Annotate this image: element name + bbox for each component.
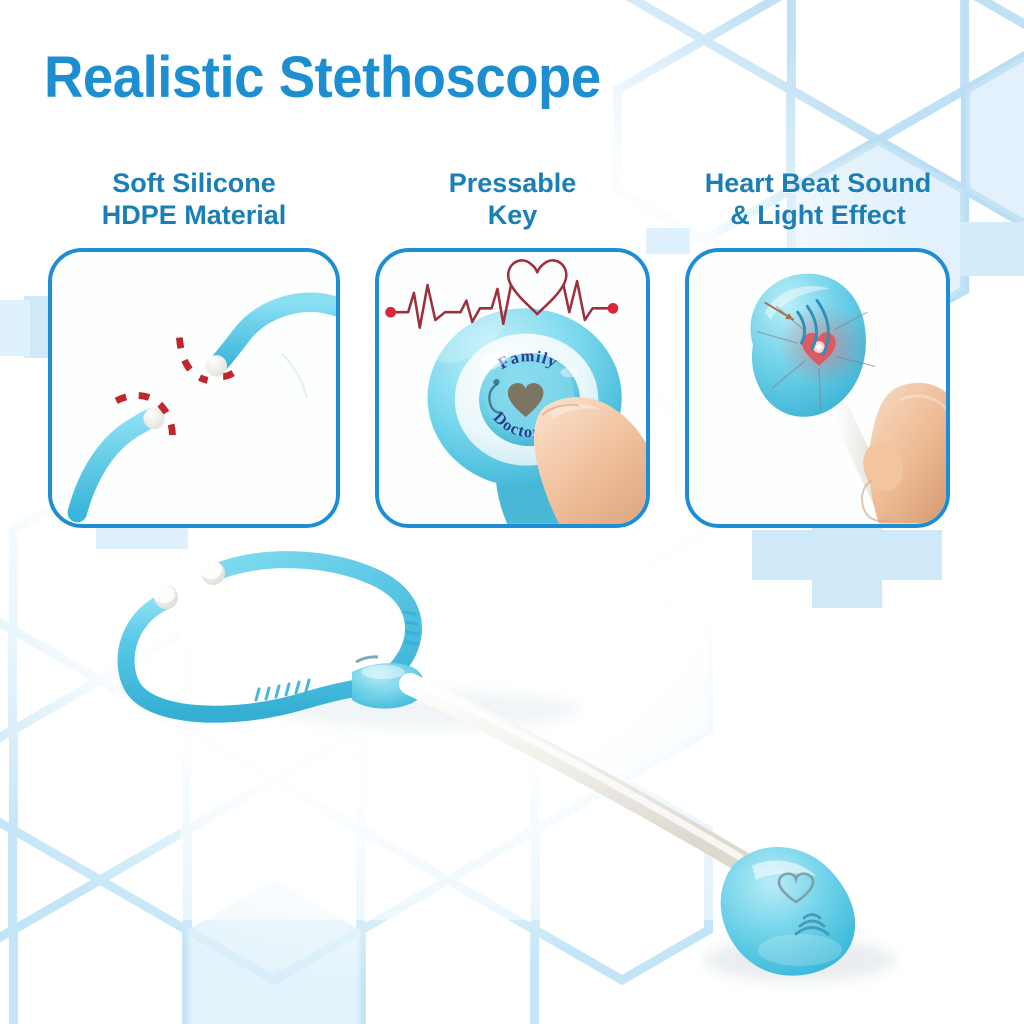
feature-caption-pressable-key: Pressable Key	[375, 168, 650, 232]
feature-caption-line1: Soft Silicone	[112, 168, 276, 198]
feature-caption-soft-silicone: Soft Silicone HDPE Material	[48, 168, 340, 232]
text-layer: Realistic Stethoscope Soft Silicone HDPE…	[0, 0, 1024, 1024]
feature-caption-line2: & Light Effect	[679, 200, 957, 232]
feature-caption-line2: HDPE Material	[48, 200, 340, 232]
feature-caption-line1: Heart Beat Sound	[705, 168, 932, 198]
feature-caption-sound-light: Heart Beat Sound & Light Effect	[679, 168, 957, 232]
feature-caption-line2: Key	[375, 200, 650, 232]
infographic-canvas: Family Doctor	[0, 0, 1024, 1024]
page-title: Realistic Stethoscope	[44, 44, 601, 111]
feature-caption-line1: Pressable	[449, 168, 577, 198]
